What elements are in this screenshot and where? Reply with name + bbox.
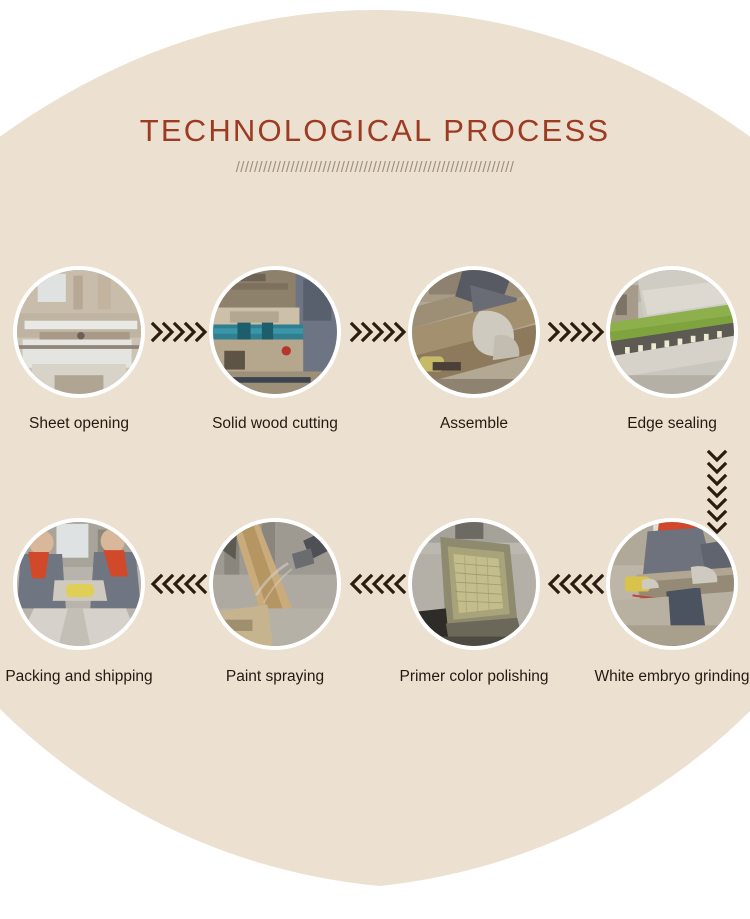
process-step-packing-and-shipping[interactable]: Packing and shipping (0, 518, 178, 688)
wood-cutting-machine-photo (213, 270, 337, 394)
process-row-2: Packing and shipping (0, 518, 750, 718)
worker-assembling-frame-photo (412, 270, 536, 394)
process-step-edge-sealing[interactable]: Edge sealing (573, 266, 750, 435)
step-label: Assemble (375, 414, 573, 435)
step-label: Solid wood cutting (176, 414, 374, 435)
step-label: White embryo grinding (573, 667, 750, 688)
primer-polished-chair-photo (412, 522, 536, 646)
worker-sanding-board-photo (610, 522, 734, 646)
spray-gun-painting-photo (213, 522, 337, 646)
step-label: Primer color polishing (375, 667, 573, 688)
process-step-assemble[interactable]: Assemble (375, 266, 573, 435)
panel-saw-machine-photo (17, 270, 141, 394)
process-step-primer-color-polishing[interactable]: Primer color polishing (375, 518, 573, 688)
step-thumbnail[interactable] (408, 266, 540, 398)
header: TECHNOLOGICAL PROCESS //////////////////… (0, 112, 750, 175)
process-step-paint-spraying[interactable]: Paint spraying (176, 518, 374, 688)
edge-banding-machine-photo (610, 270, 734, 394)
step-label: Edge sealing (573, 414, 750, 435)
process-step-solid-wood-cutting[interactable]: Solid wood cutting (176, 266, 374, 435)
step-label: Packing and shipping (0, 667, 178, 688)
step-thumbnail[interactable] (209, 518, 341, 650)
technological-process-infographic: TECHNOLOGICAL PROCESS //////////////////… (0, 0, 750, 919)
process-step-white-embryo-grinding[interactable]: White embryo grinding (573, 518, 750, 688)
step-thumbnail[interactable] (13, 518, 145, 650)
step-thumbnail[interactable] (606, 266, 738, 398)
step-label: Paint spraying (176, 667, 374, 688)
title-divider-slashes: ////////////////////////////////////////… (229, 161, 521, 175)
step-thumbnail[interactable] (408, 518, 540, 650)
process-row-1: Sheet opening (0, 266, 750, 466)
step-thumbnail[interactable] (13, 266, 145, 398)
step-thumbnail[interactable] (606, 518, 738, 650)
step-thumbnail[interactable] (209, 266, 341, 398)
step-label: Sheet opening (0, 414, 178, 435)
workers-packing-product-photo (17, 522, 141, 646)
process-step-sheet-opening[interactable]: Sheet opening (0, 266, 178, 435)
page-title: TECHNOLOGICAL PROCESS (0, 112, 750, 149)
